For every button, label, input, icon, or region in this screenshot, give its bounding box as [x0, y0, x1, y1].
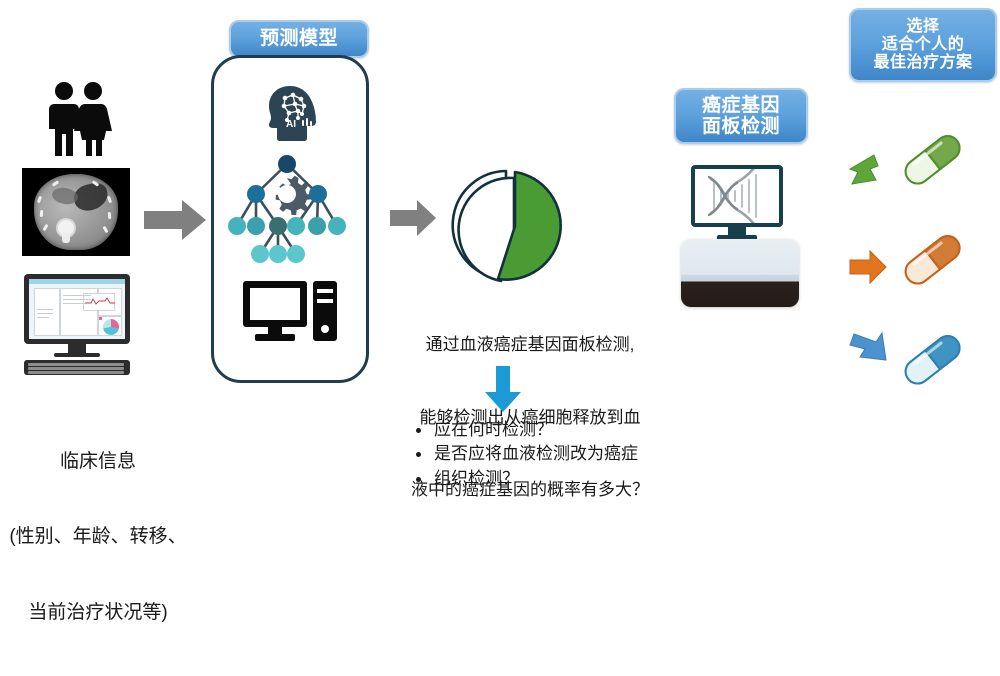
badge-choose-line-1: 选择 — [873, 18, 972, 36]
follow-up-questions-list: 应在何时检测？ 是否应将血液检测改为癌症 组织检测？ — [398, 418, 698, 491]
badge-cancer-gene-panel: 癌症基因 面板检测 — [674, 88, 808, 144]
clinical-info-line-1: 临床信息 — [0, 449, 196, 474]
ct-scan-image — [22, 168, 130, 256]
people-pictogram-icon — [40, 80, 120, 158]
gray-arrow-right-icon-1 — [144, 198, 206, 242]
sequencer-body — [681, 239, 799, 307]
orange-arrow-right-icon — [848, 248, 888, 286]
slide-canvas: 临床信息 (性别、年龄、转移、 当前治疗状况等) 预测模型 AI — [0, 0, 1000, 495]
badge-choose-best-treatment: 选择 适合个人的 最佳治疗方案 — [849, 8, 997, 82]
pill-orange — [895, 230, 969, 288]
blue-down-arrow-icon — [485, 366, 521, 412]
desktop-computer-tower-icon — [243, 281, 337, 343]
question-line-1: 通过血液癌症基因面板检测, — [386, 333, 674, 357]
badge-prediction-model-label: 预测模型 — [260, 28, 338, 49]
dna-sequencer-machine-icon — [681, 165, 801, 307]
pill-green — [895, 130, 969, 188]
dna-helix-icon — [695, 169, 779, 223]
badge-choose-line-3: 最佳治疗方案 — [873, 54, 972, 72]
clinical-info-line-2: (性别、年龄、转移、 — [0, 524, 196, 549]
clinical-info-line-3: 当前治疗状况等) — [0, 600, 196, 625]
detection-probability-pie-chart — [443, 166, 579, 284]
list-item: 应在何时检测？ — [416, 418, 698, 441]
badge-cancer-gene-panel-line-2: 面板检测 — [702, 116, 780, 137]
clinical-desktop-computer-icon — [18, 274, 136, 376]
list-item: 是否应将血液检测改为癌症 — [416, 442, 698, 465]
sequencer-monitor — [691, 165, 783, 227]
badge-cancer-gene-panel-line-1: 癌症基因 — [702, 95, 780, 116]
list-item-continuation: 组织检测？ — [416, 467, 698, 490]
blue-arrow-down-right-icon — [848, 330, 888, 368]
decision-tree-gear-icon — [216, 150, 358, 270]
ai-brain-head-icon: AI — [259, 82, 321, 144]
green-arrow-up-right-icon — [848, 152, 888, 190]
badge-prediction-model: 预测模型 — [229, 20, 369, 58]
svg-text:AI: AI — [286, 119, 296, 130]
pill-blue — [895, 330, 969, 388]
clinical-info-label: 临床信息 (性别、年龄、转移、 当前治疗状况等) — [0, 398, 196, 676]
gray-arrow-right-icon-2 — [390, 198, 436, 238]
badge-choose-line-2: 适合个人的 — [873, 36, 972, 54]
